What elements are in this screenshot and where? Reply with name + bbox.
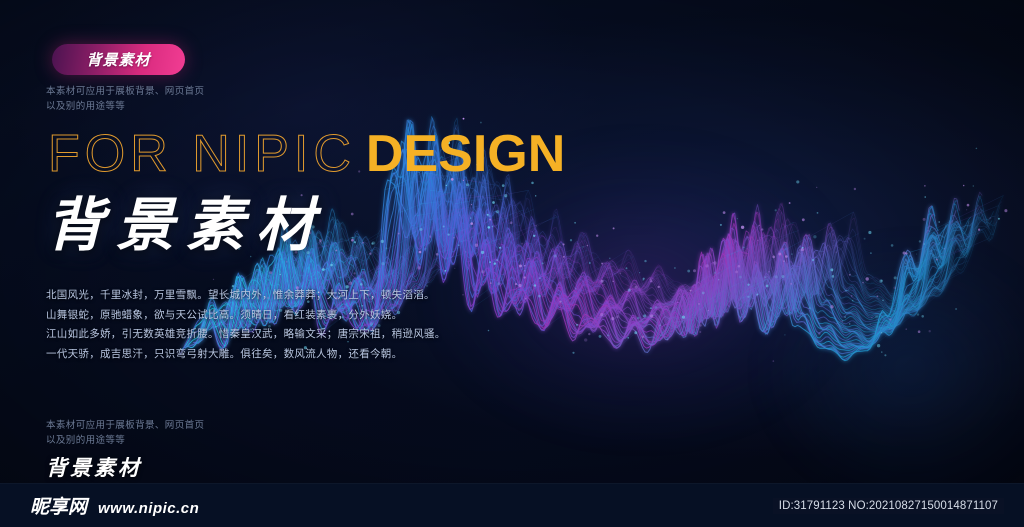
poem-block: 北国风光，千里冰封，万里雪飘。望长城内外，惟余莽莽；大河上下，顿失滔滔。 山舞银… <box>46 286 446 364</box>
usage-note-top-line2: 以及别的用途等等 <box>46 99 204 114</box>
site-logo-mark: 昵享网 <box>30 492 87 519</box>
english-headline-thin: FOR NIPIC <box>48 125 356 183</box>
usage-note-bottom-line1: 本素材可应用于展板背景、网页首页 <box>46 418 204 433</box>
category-badge[interactable]: 背景素材 <box>52 44 185 75</box>
usage-note-top: 本素材可应用于展板背景、网页首页 以及别的用途等等 <box>46 84 204 114</box>
poster-canvas: 背景素材 本素材可应用于展板背景、网页首页 以及别的用途等等 FOR NIPIC… <box>0 0 1024 527</box>
footer-bar: 昵享网 www.nipic.cn ID:31791123 NO:20210827… <box>0 483 1024 527</box>
site-logo[interactable]: 昵享网 www.nipic.cn <box>30 492 199 519</box>
poem-line: 北国风光，千里冰封，万里雪飘。望长城内外，惟余莽莽；大河上下，顿失滔滔。 <box>46 286 446 306</box>
usage-note-top-line1: 本素材可应用于展板背景、网页首页 <box>46 84 204 99</box>
usage-note-bottom: 本素材可应用于展板背景、网页首页 以及别的用途等等 <box>46 418 204 448</box>
poem-line: 一代天骄，成吉思汗，只识弯弓射大雕。俱往矣，数风流人物，还看今朝。 <box>46 345 446 365</box>
asset-id-watermark: ID:31791123 NO:20210827150014871107 <box>773 498 1004 514</box>
poem-line: 江山如此多娇，引无数英雄竞折腰。惜秦皇汉武，略输文采；唐宗宋祖，稍逊风骚。 <box>46 325 446 345</box>
english-headline-bold: DESIGN <box>366 125 565 183</box>
chinese-headline: 背景素材 <box>46 193 326 259</box>
site-logo-url: www.nipic.cn <box>98 500 199 517</box>
usage-note-bottom-line2: 以及别的用途等等 <box>46 433 204 448</box>
category-badge-label: 背景素材 <box>86 49 150 70</box>
sub-title: 背景素材 <box>46 452 142 482</box>
english-headline: FOR NIPICDESIGN <box>48 126 565 182</box>
poem-line: 山舞银蛇，原驰蜡象，欲与天公试比高。须晴日，看红装素裹，分外妖娆。 <box>46 306 446 326</box>
